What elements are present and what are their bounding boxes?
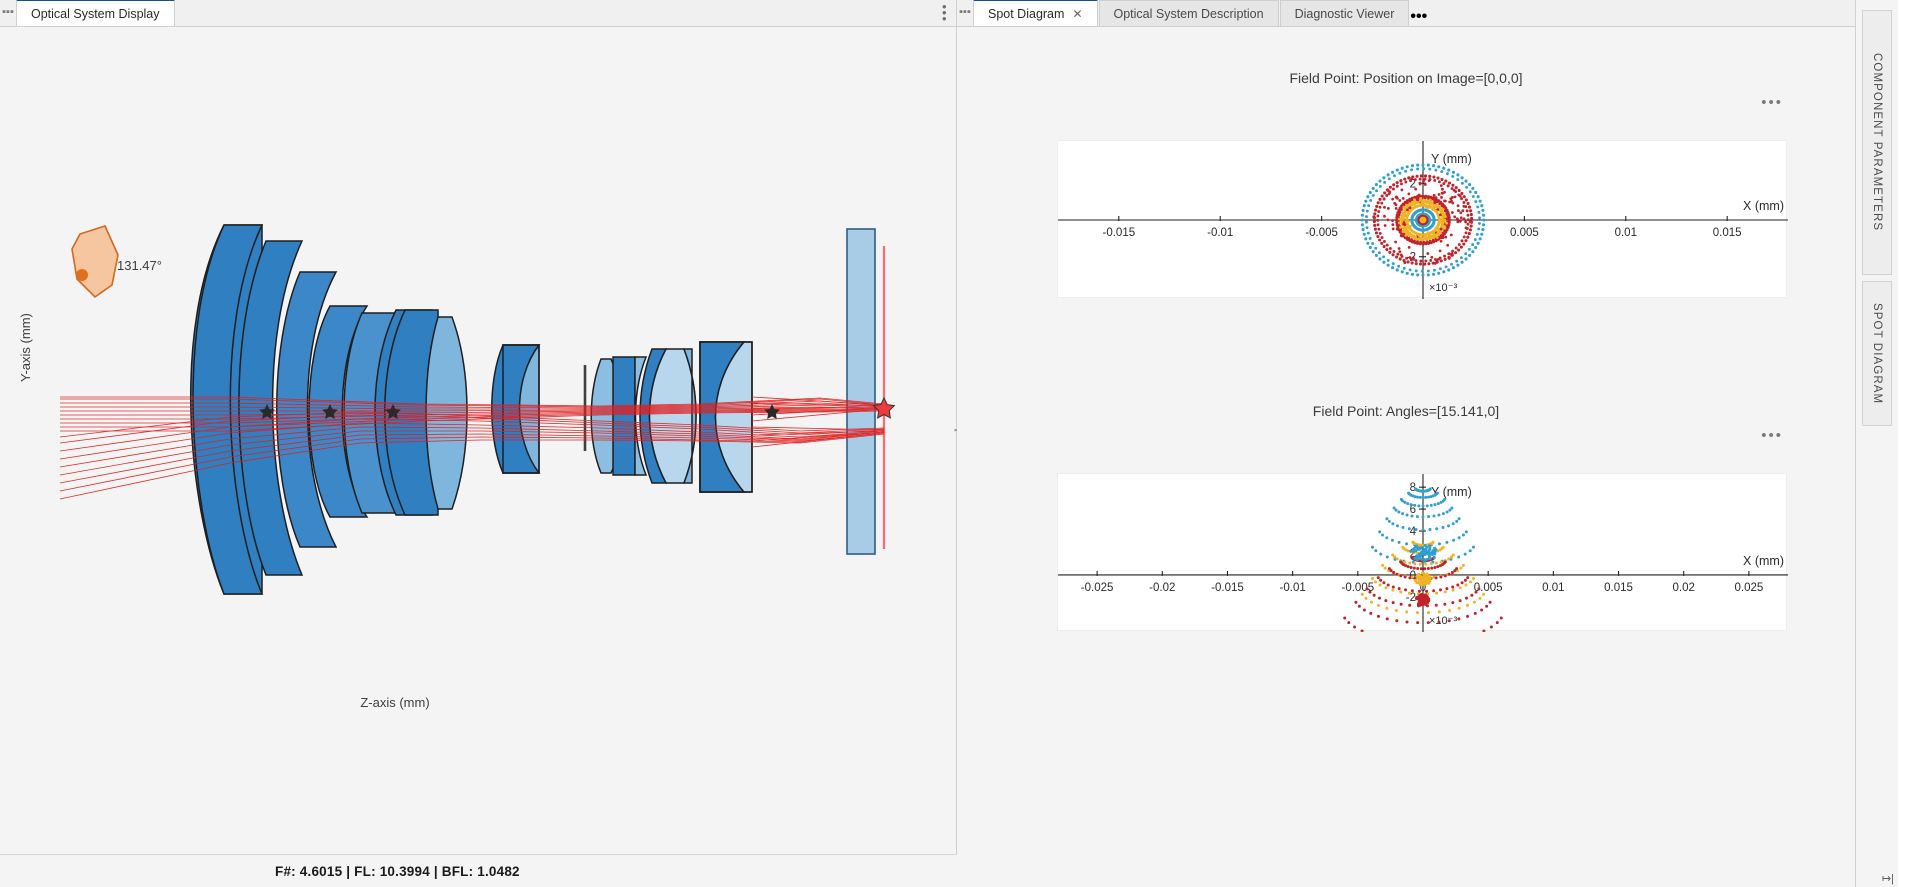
drag-grip-icon[interactable]: ▪▪▪ bbox=[0, 0, 16, 26]
svg-text:0.005: 0.005 bbox=[1510, 227, 1539, 239]
resize-handle-icon[interactable]: ↦| bbox=[1882, 872, 1894, 885]
spot-diagram-panel: ▪▪▪ Spot Diagram ✕ Optical System Descri… bbox=[957, 0, 1898, 887]
spot-chart-svg-1: -0.015-0.01-0.0050.0050.010.0152-2X (mm)… bbox=[1058, 141, 1788, 299]
ray-trace-bundle bbox=[60, 397, 884, 499]
svg-text:-0.015: -0.015 bbox=[1103, 227, 1136, 239]
lens-group-front bbox=[191, 225, 367, 594]
svg-text:×10⁻³: ×10⁻³ bbox=[1429, 615, 1457, 627]
status-bar-metrics: F#: 4.6015 | FL: 10.3994 | BFL: 1.0482 bbox=[275, 864, 520, 879]
svg-text:X (mm): X (mm) bbox=[1743, 199, 1784, 213]
close-icon[interactable]: ✕ bbox=[1072, 7, 1082, 21]
right-side-tab-rail: COMPONENT PARAMETERS SPOT DIAGRAM bbox=[1855, 0, 1898, 887]
svg-text:0.015: 0.015 bbox=[1604, 582, 1633, 594]
svg-text:0.02: 0.02 bbox=[1673, 582, 1695, 594]
lens-group-relay bbox=[591, 357, 646, 475]
image-point-marker-icon bbox=[874, 398, 895, 418]
tab-label: Optical System Description bbox=[1114, 7, 1264, 21]
window-filter-element bbox=[847, 229, 875, 554]
left-panel-overflow-menu-icon[interactable]: ••• bbox=[942, 4, 946, 22]
spot-chart-plot-area-2[interactable]: -0.025-0.02-0.015-0.01-0.00500.0050.010.… bbox=[1057, 473, 1787, 631]
drag-grip-icon[interactable]: ▪▪▪ bbox=[957, 0, 973, 26]
svg-text:-0.02: -0.02 bbox=[1149, 582, 1175, 594]
spot-chart-menu-icon-1[interactable]: ••• bbox=[1761, 94, 1783, 111]
lens-group-relay2 bbox=[640, 349, 696, 483]
spot-chart-title-1: Field Point: Position on Image=[0,0,0] bbox=[957, 70, 1855, 86]
optical-system-display-panel: ▪▪▪ Optical System Display ••• Y-axis (m… bbox=[0, 0, 957, 887]
panel-splitter-handle[interactable]: ▪ bbox=[954, 425, 959, 455]
spot-diagram-main: ▪▪▪ Spot Diagram ✕ Optical System Descri… bbox=[957, 0, 1855, 887]
svg-text:-0.01: -0.01 bbox=[1280, 582, 1306, 594]
right-panel-overflow-menu-icon[interactable]: ••• bbox=[1410, 8, 1427, 26]
optical-layout-svg bbox=[0, 27, 957, 857]
svg-text:X (mm): X (mm) bbox=[1743, 554, 1784, 568]
tab-label: Diagnostic Viewer bbox=[1295, 7, 1395, 21]
right-tabstrip: ▪▪▪ Spot Diagram ✕ Optical System Descri… bbox=[957, 0, 1855, 27]
spot-chart-title-2: Field Point: Angles=[15.141,0] bbox=[957, 403, 1855, 419]
tab-label: Optical System Display bbox=[31, 7, 160, 21]
svg-text:0.01: 0.01 bbox=[1615, 227, 1637, 239]
svg-text:0.015: 0.015 bbox=[1713, 227, 1742, 239]
side-tab-spot-diagram[interactable]: SPOT DIAGRAM bbox=[1862, 281, 1892, 426]
svg-text:-0.015: -0.015 bbox=[1211, 582, 1244, 594]
left-tabstrip: ▪▪▪ Optical System Display ••• bbox=[0, 0, 956, 27]
side-tab-label: COMPONENT PARAMETERS bbox=[1871, 41, 1883, 243]
spot-diagram-block-1: Field Point: Position on Image=[0,0,0] •… bbox=[957, 70, 1855, 86]
spot-chart-menu-icon-2[interactable]: ••• bbox=[1761, 427, 1783, 444]
svg-text:Y (mm): Y (mm) bbox=[1431, 152, 1472, 166]
lens-group-rear bbox=[700, 342, 752, 492]
svg-text:4: 4 bbox=[1410, 526, 1417, 538]
svg-text:0.01: 0.01 bbox=[1542, 582, 1564, 594]
svg-text:0.025: 0.025 bbox=[1735, 582, 1764, 594]
side-tab-label: SPOT DIAGRAM bbox=[1871, 291, 1883, 416]
field-of-view-wedge-icon bbox=[72, 226, 118, 297]
svg-text:-0.005: -0.005 bbox=[1305, 227, 1338, 239]
application-window: ▪▪▪ Optical System Display ••• Y-axis (m… bbox=[0, 0, 1918, 887]
tab-optical-system-description[interactable]: Optical System Description bbox=[1099, 0, 1279, 26]
optical-layout-canvas[interactable]: Y-axis (mm) Z-axis (mm) 131.47° bbox=[0, 27, 956, 857]
tab-label: Spot Diagram bbox=[988, 7, 1064, 21]
tab-diagnostic-viewer[interactable]: Diagnostic Viewer bbox=[1280, 0, 1410, 26]
svg-text:-0.025: -0.025 bbox=[1081, 582, 1114, 594]
tab-optical-system-display[interactable]: Optical System Display bbox=[16, 0, 175, 26]
svg-text:-0.01: -0.01 bbox=[1207, 227, 1233, 239]
svg-text:-2: -2 bbox=[1406, 592, 1416, 604]
svg-text:×10⁻³: ×10⁻³ bbox=[1429, 282, 1457, 294]
tab-spot-diagram[interactable]: Spot Diagram ✕ bbox=[973, 0, 1098, 26]
spot-chart-plot-area-1[interactable]: -0.015-0.01-0.0050.0050.010.0152-2X (mm)… bbox=[1057, 140, 1787, 298]
spot-chart-svg-2: -0.025-0.02-0.015-0.01-0.00500.0050.010.… bbox=[1058, 474, 1788, 632]
spot-diagram-block-2: Field Point: Angles=[15.141,0] ••• bbox=[957, 403, 1855, 419]
status-bar: F#: 4.6015 | FL: 10.3994 | BFL: 1.0482 bbox=[0, 854, 957, 887]
side-tab-component-parameters[interactable]: COMPONENT PARAMETERS bbox=[1862, 10, 1892, 275]
